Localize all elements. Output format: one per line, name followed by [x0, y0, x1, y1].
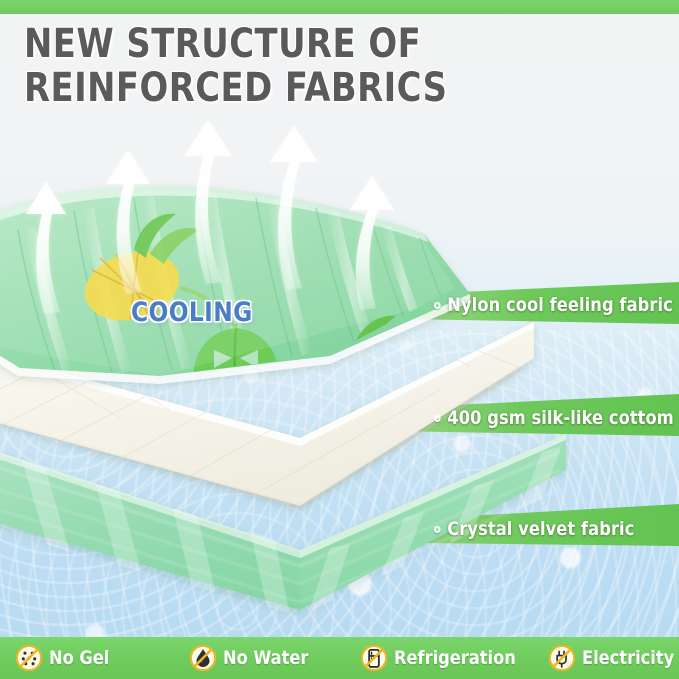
- no-refrigeration-icon: [361, 645, 387, 671]
- feature-item-no-water: No Water: [174, 637, 345, 679]
- feature-item-refrigeration: Refrigeration: [345, 637, 533, 679]
- feature-label: Refrigeration: [394, 647, 516, 669]
- no-gel-icon: [16, 645, 42, 671]
- layer-label-text: 400 gsm silk-like cottom: [447, 407, 674, 429]
- cooling-callout: COOLING: [131, 297, 253, 328]
- layer-label-nylon-cool-feeling: Nylon cool feeling fabric: [434, 294, 673, 316]
- fabric-layer-stack-illustration: [0, 118, 679, 638]
- page-title-line-1: NEW STRUCTURE OF: [24, 22, 607, 66]
- layer-label-text: Nylon cool feeling fabric: [447, 294, 673, 316]
- layer-label-crystal-velvet: Crystal velvet fabric: [434, 518, 634, 540]
- feature-item-no-gel: No Gel: [0, 637, 174, 679]
- layer-label-silk-like-cotton: 400 gsm silk-like cottom: [434, 407, 674, 429]
- feature-label: No Gel: [49, 647, 109, 669]
- layer-label-text: Crystal velvet fabric: [447, 518, 634, 540]
- top-accent-bar: [0, 0, 679, 14]
- page-title: NEW STRUCTURE OF REINFORCED FABRICS: [24, 22, 607, 110]
- feature-label: Electricity: [582, 647, 674, 669]
- circle-bullet-icon: [434, 415, 441, 422]
- feature-item-electricity: Electricity: [533, 637, 679, 679]
- circle-bullet-icon: [434, 526, 441, 533]
- no-water-icon: [190, 645, 216, 671]
- no-electricity-icon: [549, 645, 575, 671]
- feature-bar: No Gel No Water: [0, 637, 679, 679]
- circle-bullet-icon: [434, 302, 441, 309]
- page-title-line-2: REINFORCED FABRICS: [24, 66, 607, 110]
- feature-label: No Water: [223, 647, 308, 669]
- product-infographic: NEW STRUCTURE OF REINFORCED FABRICS: [0, 0, 679, 679]
